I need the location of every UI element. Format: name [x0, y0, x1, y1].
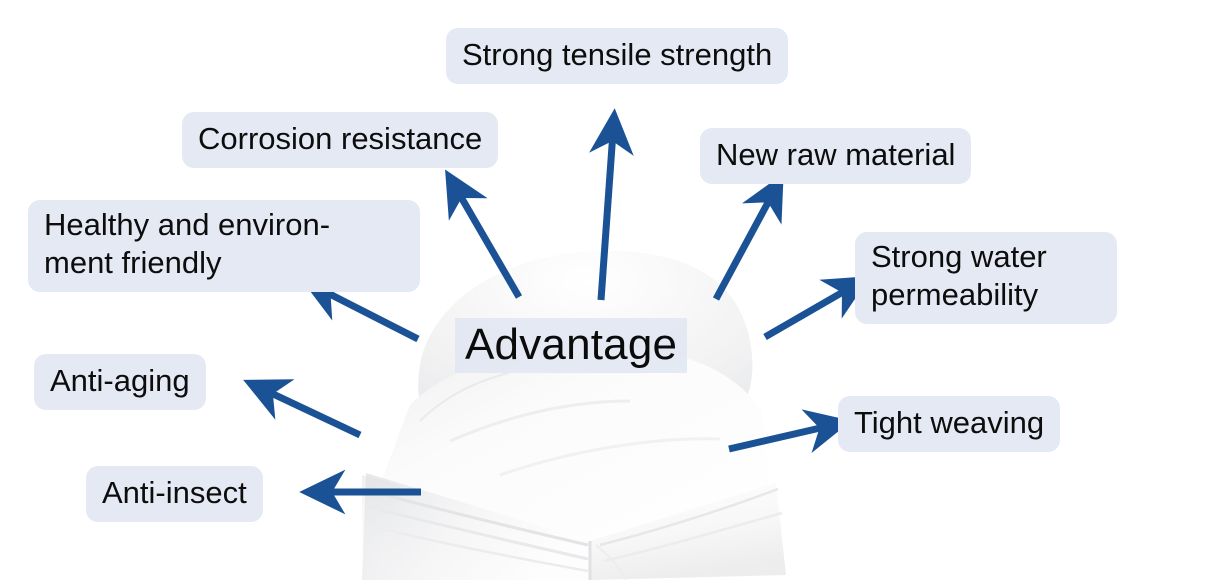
- callout-label-strong-water-permeability[interactable]: Strong water permeability: [855, 232, 1117, 324]
- callout-label-anti-aging[interactable]: Anti-aging: [34, 354, 206, 410]
- callout-label-tight-weaving[interactable]: Tight weaving: [838, 396, 1060, 452]
- callout-label-strong-tensile-strength[interactable]: Strong tensile strength: [446, 28, 788, 84]
- callout-label-anti-insect[interactable]: Anti-insect: [86, 466, 263, 522]
- callout-label-corrosion-resistance[interactable]: Corrosion resistance: [182, 112, 498, 168]
- callout-label-healthy-and-environment-friendly[interactable]: Healthy and environ- ment friendly: [28, 200, 420, 292]
- product-photo-fabric-bundle: [270, 245, 880, 580]
- callout-label-new-raw-material[interactable]: New raw material: [700, 128, 971, 184]
- center-label-advantage: Advantage: [455, 318, 687, 373]
- advantage-diagram: Advantage Strong tensile strength Corros…: [0, 0, 1215, 580]
